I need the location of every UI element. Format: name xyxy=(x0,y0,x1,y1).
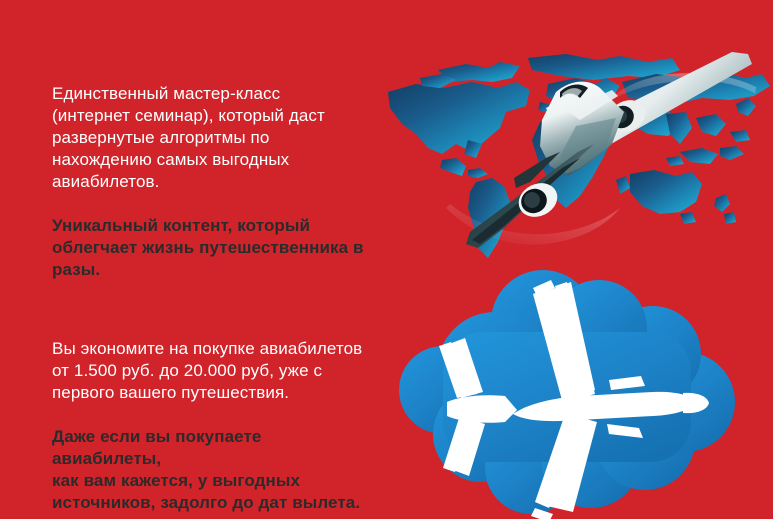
promo-slide: Единственный мастер-класс (интернет семи… xyxy=(0,0,773,519)
cloud-airplane-svg xyxy=(395,262,773,519)
benefit-block-savings: Вы экономите на покупке авиабилетов от 1… xyxy=(52,338,372,404)
world-map-svg xyxy=(380,48,773,278)
benefit-block-even-if: Даже если вы покупаете авиабилеты, как в… xyxy=(52,426,372,514)
benefit-block-unique-content: Уникальный контент, который облегчает жи… xyxy=(52,215,372,281)
world-map-illustration xyxy=(380,48,773,278)
benefits-text-column: Единственный мастер-класс (интернет семи… xyxy=(52,66,372,519)
cloud-airplane-illustration xyxy=(395,262,773,519)
benefit-block-masterclass: Единственный мастер-класс (интернет семи… xyxy=(52,83,372,193)
